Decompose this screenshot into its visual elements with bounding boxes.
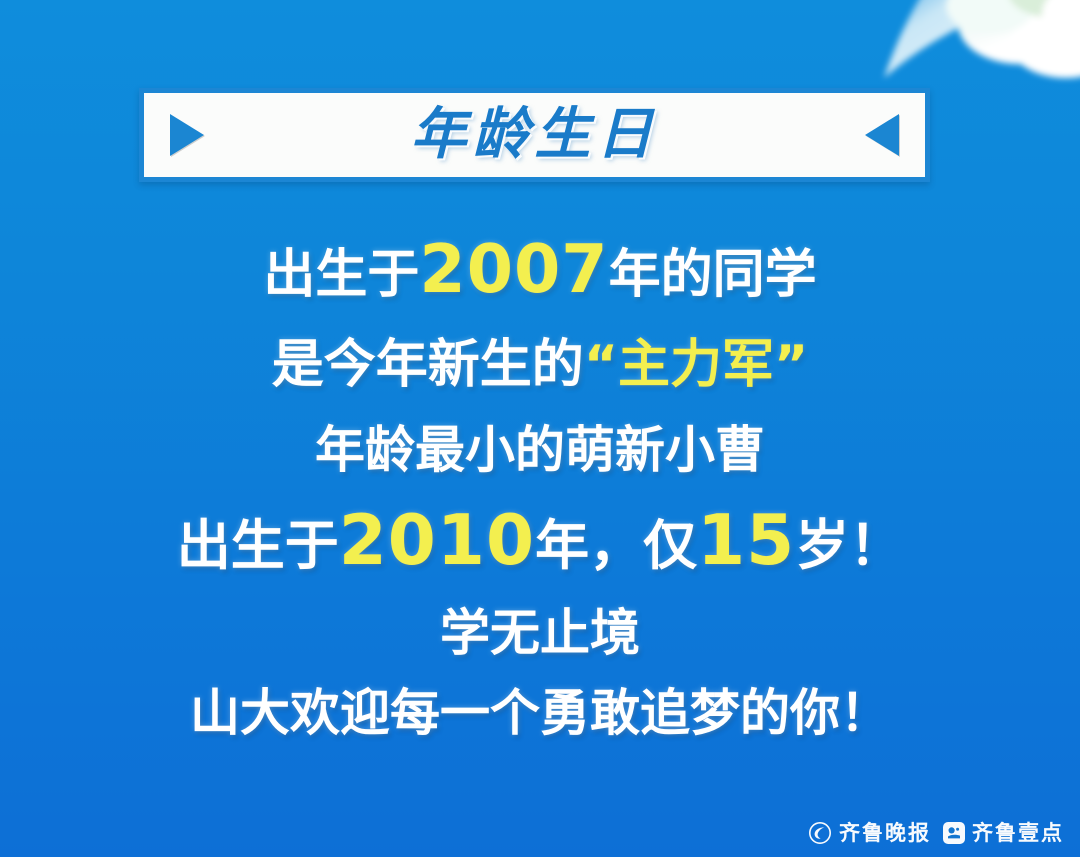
section-title-banner: 年龄生日 [139, 88, 930, 182]
watermark-app: 齐鲁壹点 [943, 822, 1064, 844]
body-copy: 出生于2007年的同学 是今年新生的“主力军” 年龄最小的萌新小曹 出生于201… [0, 236, 1080, 738]
yidian-app-icon [943, 822, 965, 844]
copy-line-4-prefix: 出生于 [177, 514, 339, 577]
triangle-left-icon [865, 114, 899, 156]
cloud-icon [824, 0, 1080, 86]
watermark-brand-name: 齐鲁晚报 [839, 823, 931, 844]
copy-line-4-highlight-2: 15 [697, 501, 795, 581]
poster-canvas: 年龄生日 出生于2007年的同学 是今年新生的“主力军” 年龄最小的萌新小曹 出… [0, 0, 1080, 857]
copy-line-2-highlight: 主力军 [618, 335, 774, 395]
copy-line-2-prefix: 是今年新生的 [272, 335, 584, 395]
page-title: 年龄生日 [204, 107, 865, 163]
copy-line-1-prefix: 出生于 [263, 245, 419, 305]
copy-line-1: 出生于2007年的同学 [0, 236, 1080, 303]
watermark-app-name: 齐鲁壹点 [972, 823, 1064, 844]
watermark: 齐鲁晚报 齐鲁壹点 [808, 821, 1064, 845]
copy-line-4-middle: 年，仅 [535, 514, 697, 577]
copy-line-2: 是今年新生的“主力军” [0, 339, 1080, 391]
copy-line-2-quote-open: “ [584, 335, 618, 395]
copy-line-1-suffix: 年的同学 [609, 245, 817, 305]
triangle-right-icon [170, 114, 204, 156]
copy-line-2-quote-close: ” [774, 335, 808, 395]
copy-line-4: 出生于2010年，仅15岁！ [0, 507, 1080, 576]
copy-line-3: 年龄最小的萌新小曹 [0, 425, 1080, 475]
copy-line-4-highlight: 2010 [339, 501, 535, 581]
copy-line-4-suffix: 岁！ [795, 514, 903, 577]
swirl-logo-icon [808, 821, 832, 845]
copy-line-5: 学无止境 [0, 608, 1080, 658]
copy-line-1-highlight: 2007 [419, 230, 608, 308]
watermark-brand: 齐鲁晚报 [808, 821, 931, 845]
copy-line-6: 山大欢迎每一个勇敢追梦的你！ [0, 688, 1080, 738]
